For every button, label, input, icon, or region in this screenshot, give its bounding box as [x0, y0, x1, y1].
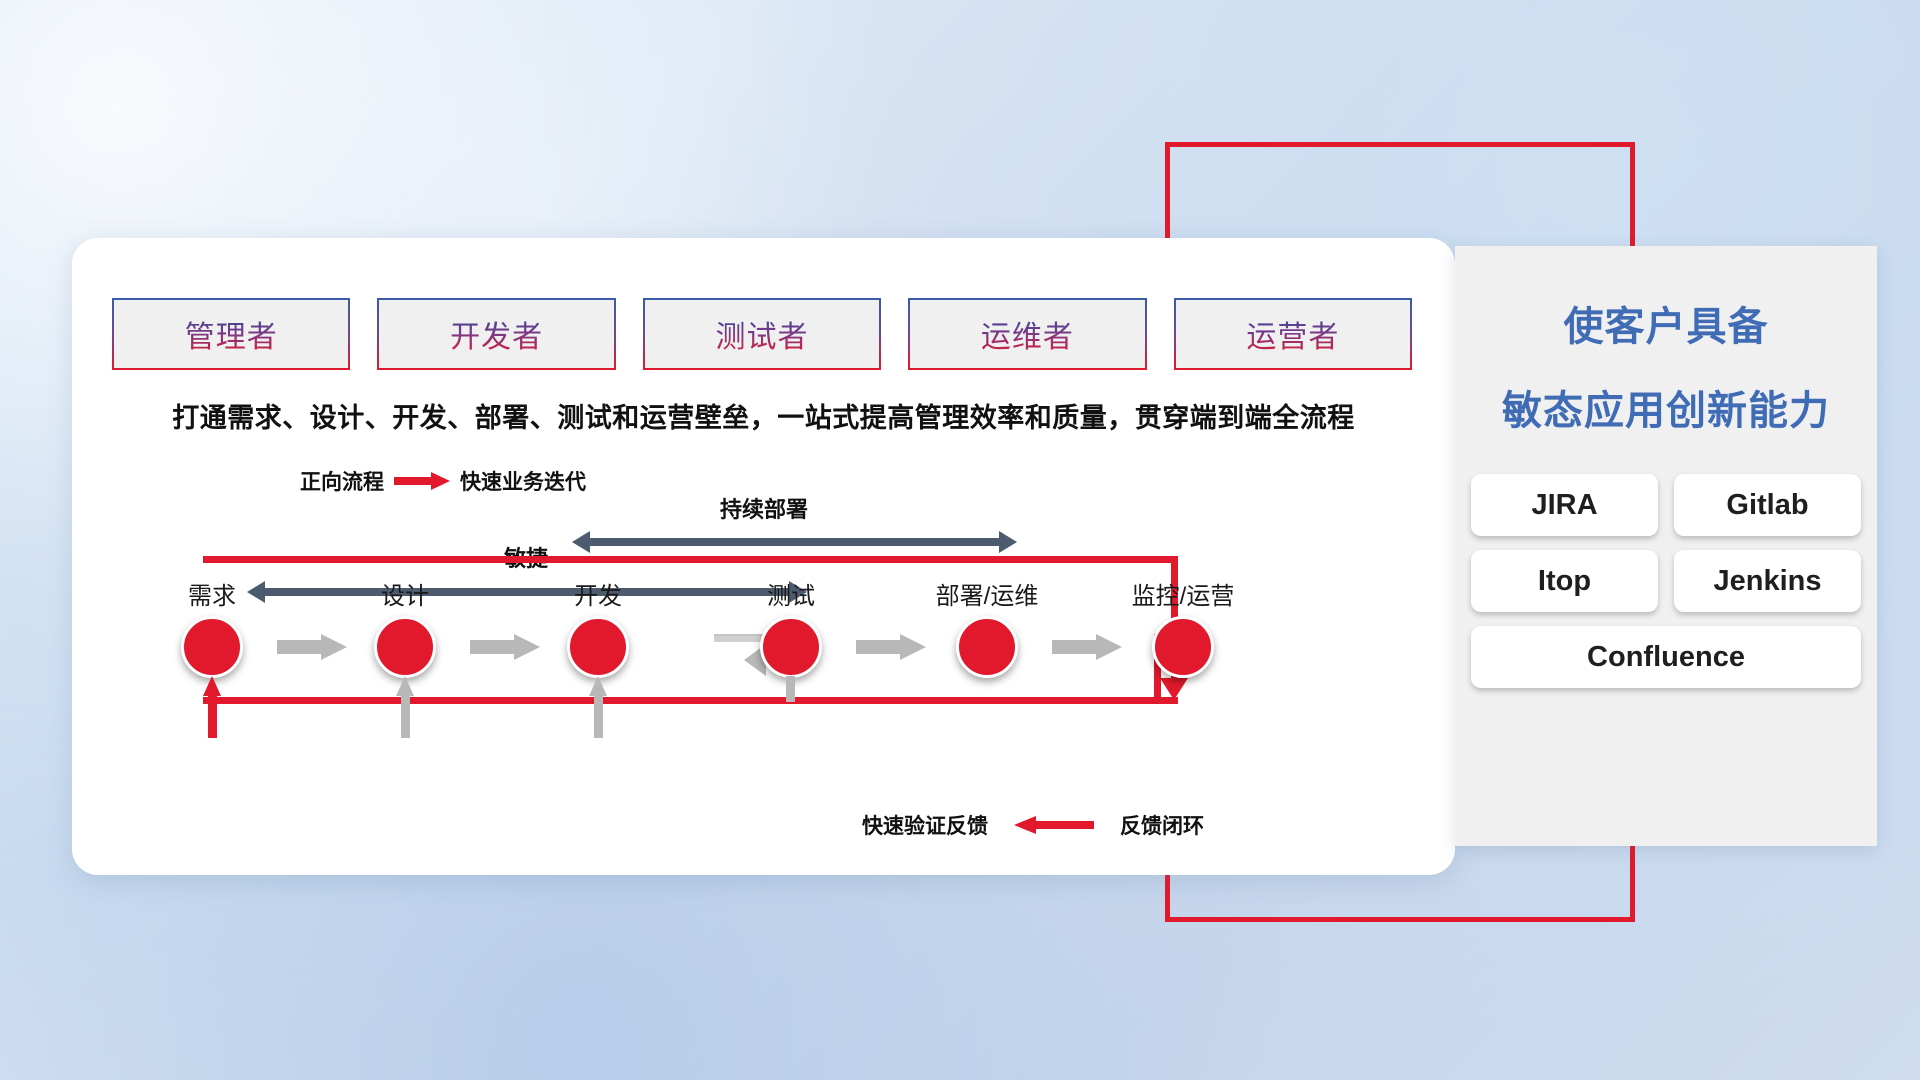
arrow-tip — [589, 676, 607, 696]
red-up-arrow-icon-requirement — [203, 676, 221, 738]
tool-chip-label: Gitlab — [1726, 489, 1808, 522]
main-content-card: 管理者 开发者 测试者 运维者 运营者 打通需求、设计、开发、部署、测试和运营壁… — [72, 238, 1455, 875]
role-label: 运维者 — [981, 312, 1074, 356]
gray-up-arrow-icon-design — [396, 676, 414, 738]
flow-node-deploy-ops[interactable] — [956, 616, 1018, 678]
value-proposition-panel: 使客户具备 敏态应用创新能力 JIRA Gitlab Itop Jenkins … — [1455, 246, 1877, 846]
flow-node-design[interactable] — [374, 616, 436, 678]
role-label: 管理者 — [185, 312, 278, 356]
flow-node-label-develop: 开发 — [574, 576, 622, 611]
role-label: 开发者 — [450, 312, 543, 356]
arrow-bar — [588, 538, 1001, 546]
tool-chip-jira[interactable]: JIRA — [1471, 474, 1658, 536]
arrow-head-right — [999, 531, 1017, 553]
panel-title-line-2: 敏态应用创新能力 — [1455, 378, 1877, 436]
flow-node-test[interactable] — [760, 616, 822, 678]
role-box-tester[interactable]: 测试者 — [643, 298, 881, 370]
continuous-deployment-label: 持续部署 — [720, 492, 808, 524]
tool-chip-label: JIRA — [1531, 489, 1597, 522]
flow-node-monitor-operate[interactable] — [1152, 616, 1214, 678]
red-arrow-right-icon — [394, 472, 450, 490]
legend-forward-left-label: 正向流程 — [300, 466, 384, 496]
legend-forward-process: 正向流程 快速业务迭代 — [300, 466, 586, 496]
feedback-loop-top-rail — [203, 556, 1178, 563]
flow-node-label-test: 测试 — [767, 576, 815, 611]
legend-feedback-left-label: 快速验证反馈 — [862, 810, 988, 840]
flow-node-requirement[interactable] — [181, 616, 243, 678]
gray-arrow-icon-1 — [277, 634, 347, 660]
role-label: 测试者 — [716, 312, 809, 356]
tool-chip-label: Confluence — [1587, 641, 1745, 674]
tool-chip-label: Jenkins — [1714, 565, 1822, 598]
headline-text: 打通需求、设计、开发、部署、测试和运营壁垒，一站式提高管理效率和质量，贯穿端到端… — [72, 396, 1455, 435]
flow-node-develop[interactable] — [567, 616, 629, 678]
role-box-operations[interactable]: 运营者 — [1174, 298, 1412, 370]
tool-chip-label: Itop — [1538, 565, 1591, 598]
role-box-developer[interactable]: 开发者 — [377, 298, 615, 370]
tool-chip-jenkins[interactable]: Jenkins — [1674, 550, 1861, 612]
tool-chip-confluence[interactable]: Confluence — [1471, 626, 1861, 688]
legend-forward-right-label: 快速业务迭代 — [460, 466, 586, 496]
flow-node-label-requirement: 需求 — [188, 576, 236, 611]
gray-up-arrow-icon-develop — [589, 676, 607, 738]
continuous-deployment-arrow-icon — [572, 531, 1017, 553]
arrow-stem — [208, 696, 217, 738]
flow-node-label-deploy-ops: 部署/运维 — [936, 576, 1039, 611]
flow-node-label-monitor-operate: 监控/运营 — [1132, 576, 1235, 611]
tool-chip-grid: JIRA Gitlab Itop Jenkins Confluence — [1471, 474, 1861, 688]
slide-canvas: 管理者 开发者 测试者 运维者 运营者 打通需求、设计、开发、部署、测试和运营壁… — [0, 0, 1920, 1080]
red-arrow-left-icon — [1014, 816, 1094, 834]
panel-title-line-1: 使客户具备 — [1455, 294, 1877, 352]
role-box-ops[interactable]: 运维者 — [908, 298, 1146, 370]
role-box-row: 管理者 开发者 测试者 运维者 运营者 — [112, 298, 1412, 370]
flow-node-label-design: 设计 — [381, 576, 429, 611]
arrow-stem — [594, 696, 603, 738]
gray-arrow-icon-2 — [470, 634, 540, 660]
role-box-manager[interactable]: 管理者 — [112, 298, 350, 370]
legend-feedback-loop: 快速验证反馈 反馈闭环 — [862, 810, 1204, 840]
gray-connector-test — [786, 676, 795, 702]
legend-feedback-right-label: 反馈闭环 — [1120, 810, 1204, 840]
arrow-stem — [401, 696, 410, 738]
gray-arrow-icon-3 — [856, 634, 926, 660]
tool-chip-itop[interactable]: Itop — [1471, 550, 1658, 612]
arrow-tip — [396, 676, 414, 696]
arrow-tip — [203, 676, 221, 696]
devops-flow-row: 需求 设计 开发 — [112, 568, 1422, 708]
role-label: 运营者 — [1246, 312, 1339, 356]
gray-arrow-icon-4 — [1052, 634, 1122, 660]
tool-chip-gitlab[interactable]: Gitlab — [1674, 474, 1861, 536]
